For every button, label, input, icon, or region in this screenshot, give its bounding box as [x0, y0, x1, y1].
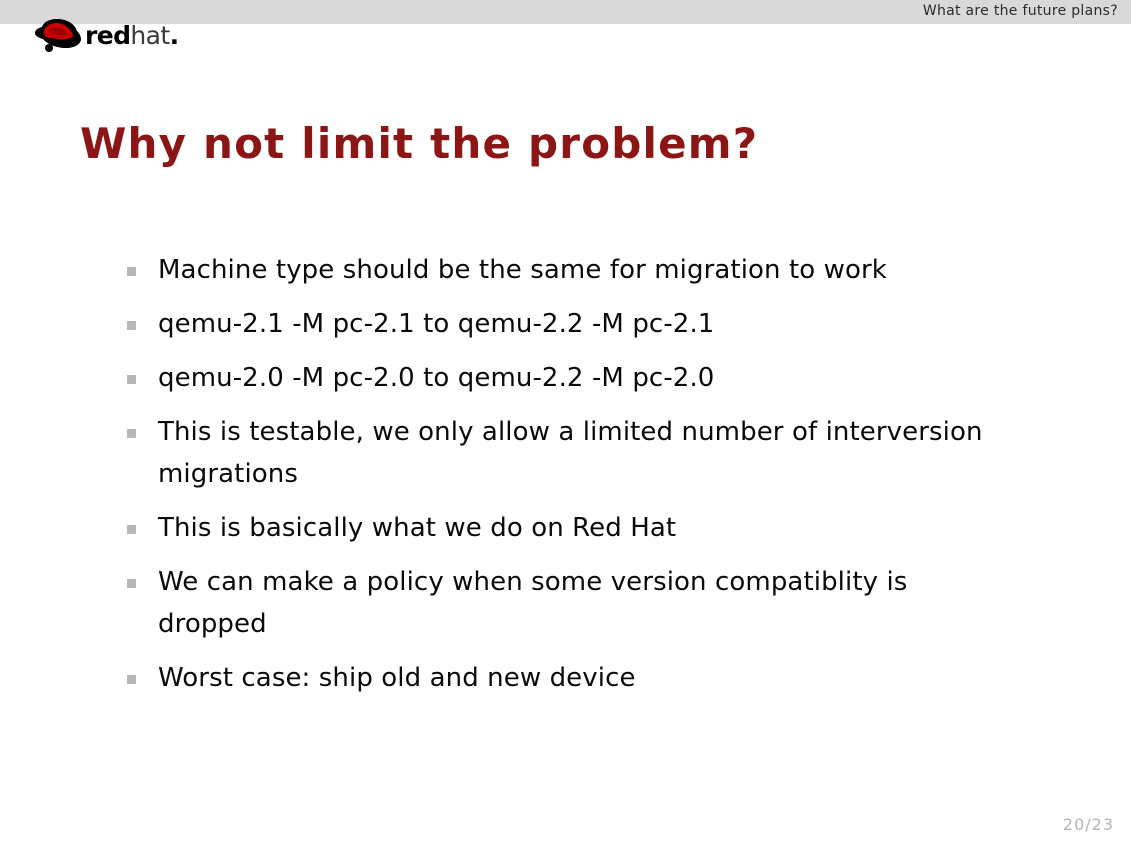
logo-word-red: red	[85, 21, 130, 50]
square-bullet-icon	[127, 267, 136, 276]
list-item: Worst case: ship old and new device	[126, 657, 986, 699]
slide-title: Why not limit the problem?	[80, 119, 758, 168]
list-item-label: This is testable, we only allow a limite…	[158, 411, 986, 495]
list-item: We can make a policy when some version c…	[126, 561, 986, 645]
list-item: Machine type should be the same for migr…	[126, 249, 986, 291]
bullet-list: Machine type should be the same for migr…	[126, 249, 986, 711]
list-item-label: Worst case: ship old and new device	[158, 657, 986, 699]
square-bullet-icon	[127, 525, 136, 534]
square-bullet-icon	[127, 675, 136, 684]
list-item: qemu-2.0 -M pc-2.0 to qemu-2.2 -M pc-2.0	[126, 357, 986, 399]
list-item: This is testable, we only allow a limite…	[126, 411, 986, 495]
square-bullet-icon	[127, 375, 136, 384]
list-item-label: qemu-2.1 -M pc-2.1 to qemu-2.2 -M pc-2.1	[158, 303, 986, 345]
page-number: 20/23	[1063, 815, 1114, 834]
logo-word-hat: hat	[130, 21, 169, 50]
list-item: qemu-2.1 -M pc-2.1 to qemu-2.2 -M pc-2.1	[126, 303, 986, 345]
shadowman-icon	[33, 17, 87, 53]
header-section-title: What are the future plans?	[923, 3, 1118, 19]
list-item-label: We can make a policy when some version c…	[158, 561, 986, 645]
presentation-slide: What are the future plans? redhat. Why n…	[0, 0, 1131, 848]
redhat-wordmark: redhat.	[85, 23, 178, 49]
square-bullet-icon	[127, 429, 136, 438]
logo-word-dot: .	[170, 21, 179, 50]
list-item-label: qemu-2.0 -M pc-2.0 to qemu-2.2 -M pc-2.0	[158, 357, 986, 399]
square-bullet-icon	[127, 321, 136, 330]
redhat-logo: redhat.	[33, 17, 193, 59]
list-item-label: This is basically what we do on Red Hat	[158, 507, 986, 549]
list-item-label: Machine type should be the same for migr…	[158, 249, 986, 291]
square-bullet-icon	[127, 579, 136, 588]
list-item: This is basically what we do on Red Hat	[126, 507, 986, 549]
